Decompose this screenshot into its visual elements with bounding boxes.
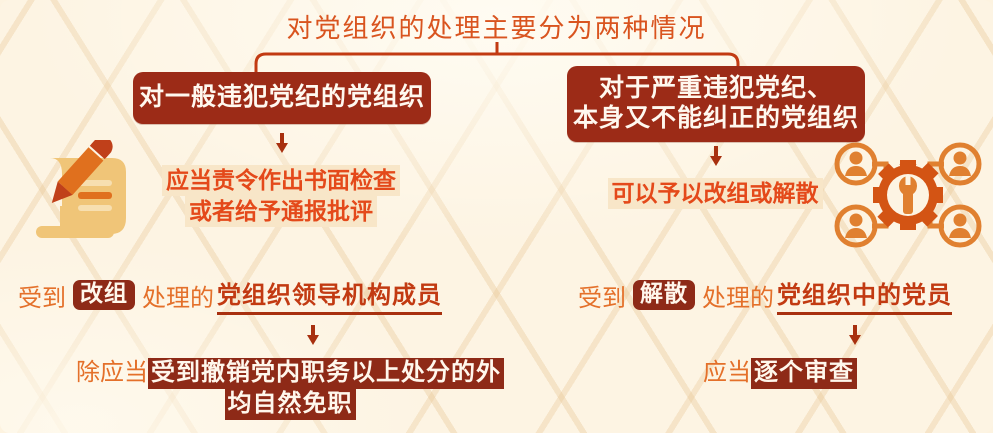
arrow-down-icon-right-2	[848, 325, 862, 345]
conclusion-left: 除应当受到撤销党内职务以上处分的外 均自然免职	[60, 358, 520, 419]
subject-right-badge: 解散	[633, 280, 695, 309]
scroll-pencil-icon	[8, 140, 140, 248]
measure-text-left: 应当责令作出书面检查 或者给予通报批评	[131, 165, 431, 227]
arrow-down-icon-left-2	[306, 325, 320, 345]
conclusion-right-inverse-line1: 逐个审查	[751, 358, 857, 389]
conclusion-left-inverse-line1: 受到撤销党内职务以上处分的外	[148, 358, 504, 389]
org-gear-people-icon	[828, 138, 988, 250]
subject-left-emphasis: 党组织领导机构成员	[217, 275, 442, 315]
subject-left-middle: 处理的	[142, 278, 214, 313]
subject-right-middle: 处理的	[702, 278, 774, 313]
measure-right-line1: 可以予以改组或解散	[608, 178, 823, 209]
subject-line-right: 受到 解散 处理的 党组织中的党员	[578, 275, 952, 315]
conclusion-left-prefix: 除应当	[76, 360, 148, 386]
subject-left-badge: 改组	[73, 280, 135, 309]
subject-right-prefix: 受到	[578, 278, 626, 313]
measure-left-line2: 或者给予通报批评	[185, 196, 377, 227]
conclusion-right: 应当逐个审查	[610, 358, 950, 389]
conclusion-right-prefix: 应当	[703, 360, 751, 386]
case-box-left: 对一般违犯党纪的党组织	[133, 72, 431, 124]
measure-left-line1: 应当责令作出书面检查	[162, 165, 400, 196]
arrow-down-icon-left-1	[275, 133, 289, 153]
subject-line-left: 受到 改组 处理的 党组织领导机构成员	[18, 275, 442, 315]
infographic-canvas: 对党组织的处理主要分为两种情况 对一般违犯党纪的党组织 对于严重违犯党纪、 本身…	[0, 0, 993, 433]
subject-right-emphasis: 党组织中的党员	[777, 275, 952, 315]
case-box-right: 对于严重违犯党纪、 本身又不能纠正的党组织	[567, 66, 865, 142]
arrow-down-icon-right-1	[709, 146, 723, 166]
subject-left-prefix: 受到	[18, 278, 66, 313]
case-box-right-line1: 对于严重违犯党纪、	[573, 74, 859, 105]
conclusion-left-inverse-line2: 均自然免职	[225, 389, 356, 420]
measure-text-right: 可以予以改组或解散	[565, 178, 865, 209]
case-box-right-line2: 本身又不能纠正的党组织	[573, 104, 859, 135]
page-title: 对党组织的处理主要分为两种情况	[0, 8, 993, 45]
